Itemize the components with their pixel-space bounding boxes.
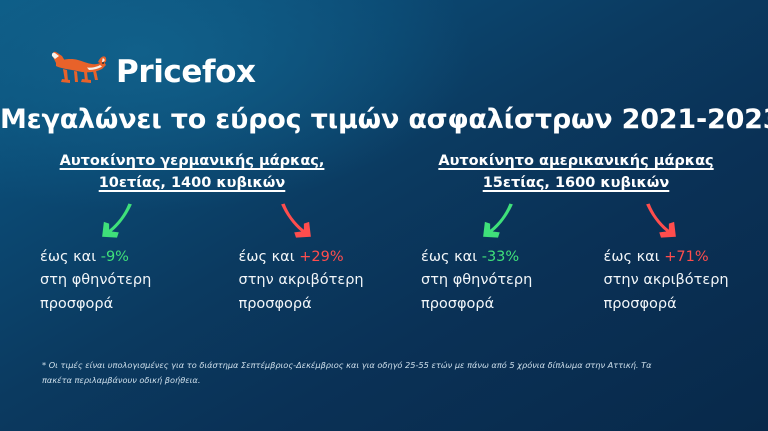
stat-prefix: έως και bbox=[40, 249, 101, 265]
stat-line-3: προσφορά bbox=[421, 293, 572, 316]
section-heading-american: Αυτοκίνητο αμερικανικής μάρκας 15ετίας, … bbox=[384, 150, 768, 194]
section-heading-german-line2: 10ετίας, 1400 κυβικών bbox=[99, 173, 286, 194]
section-heading-german-line1: Αυτοκίνητο γερμανικής μάρκας, bbox=[60, 151, 325, 172]
stat-value: -33% bbox=[482, 249, 519, 265]
brand-logo: Pricefox bbox=[50, 50, 256, 94]
stat-value: +29% bbox=[299, 249, 343, 265]
stat-line-1: έως και -33% bbox=[421, 246, 572, 269]
stat-prefix: έως και bbox=[239, 249, 300, 265]
stat-value: +71% bbox=[664, 249, 708, 265]
stat-line-1: έως και -9% bbox=[40, 246, 207, 269]
arrow-down-left-icon bbox=[421, 200, 572, 246]
stat-value: -9% bbox=[101, 249, 129, 265]
section-heading-german: Αυτοκίνητο γερμανικής μάρκας, 10ετίας, 1… bbox=[0, 150, 384, 194]
stat-line-2: στη φθηνότερη bbox=[40, 269, 207, 292]
stat-block-german-priciest: έως και +29% στην ακριβότερη προσφορά bbox=[207, 200, 390, 316]
stat-line-3: προσφορά bbox=[604, 293, 755, 316]
stat-line-1: έως και +29% bbox=[239, 246, 390, 269]
arrow-down-right-icon bbox=[604, 200, 755, 246]
stat-line-3: προσφορά bbox=[40, 293, 207, 316]
stat-line-3: προσφορά bbox=[239, 293, 390, 316]
section-headings: Αυτοκίνητο γερμανικής μάρκας, 10ετίας, 1… bbox=[0, 150, 768, 194]
stat-prefix: έως και bbox=[604, 249, 665, 265]
stat-block-american-priciest: έως και +71% στην ακριβότερη προσφορά bbox=[572, 200, 755, 316]
stat-columns: έως και -9% στη φθηνότερη προσφορά έως κ… bbox=[24, 200, 754, 316]
section-heading-american-line1: Αυτοκίνητο αμερικανικής μάρκας bbox=[438, 151, 713, 172]
stat-line-2: στην ακριβότερη bbox=[604, 269, 755, 292]
fox-icon bbox=[50, 50, 108, 94]
stat-block-american-cheapest: έως και -33% στη φθηνότερη προσφορά bbox=[389, 200, 572, 316]
stat-line-1: έως και +71% bbox=[604, 246, 755, 269]
section-heading-american-line2: 15ετίας, 1600 κυβικών bbox=[483, 173, 670, 194]
arrow-down-left-icon bbox=[40, 200, 207, 246]
footnote: * Οι τιμές είναι υπολογισμένες για το δι… bbox=[42, 358, 682, 388]
infographic-slide: Pricefox Μεγαλώνει το εύρος τιμών ασφαλί… bbox=[0, 0, 768, 431]
stat-block-german-cheapest: έως και -9% στη φθηνότερη προσφορά bbox=[24, 200, 207, 316]
stat-prefix: έως και bbox=[421, 249, 482, 265]
arrow-down-right-icon bbox=[239, 200, 390, 246]
brand-name: Pricefox bbox=[116, 57, 256, 88]
stat-line-2: στην ακριβότερη bbox=[239, 269, 390, 292]
page-title: Μεγαλώνει το εύρος τιμών ασφαλίστρων 202… bbox=[0, 104, 768, 135]
stat-line-2: στη φθηνότερη bbox=[421, 269, 572, 292]
